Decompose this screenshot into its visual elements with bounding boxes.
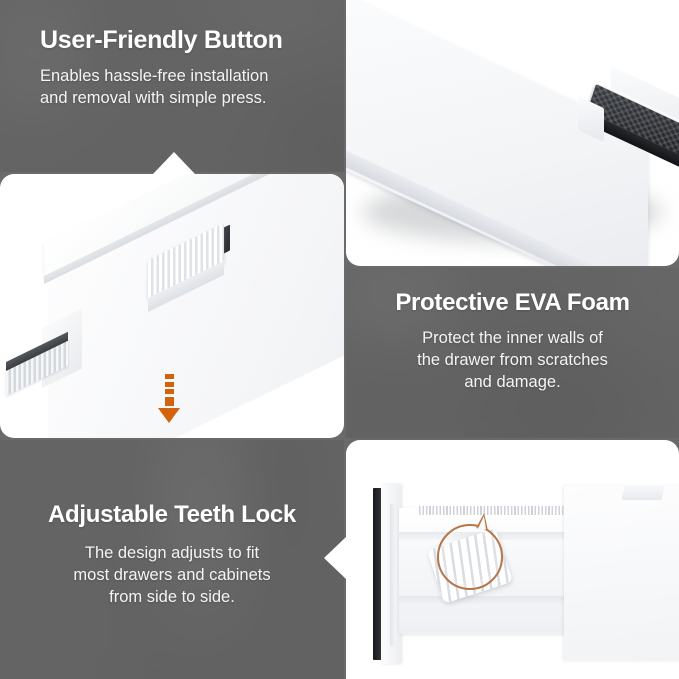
feature-body-line: from side to side. (26, 587, 318, 609)
photo-scene-teeth-lock (346, 440, 679, 679)
ratchet-teeth-rail (419, 506, 565, 515)
magnifier-circle-icon (437, 524, 503, 590)
feature-body-line: The design adjusts to fit (26, 543, 318, 565)
feature-text-block: Protective EVA Foam Protect the inner wa… (346, 268, 679, 394)
annotation-arrow-down-icon (158, 374, 180, 423)
feature-panel-adjustable-teeth-lock: Adjustable Teeth Lock The design adjusts… (0, 440, 344, 679)
feature-body-line: and damage. (372, 372, 653, 394)
feature-panel-user-friendly-button: User-Friendly Button Enables hassle-free… (0, 0, 344, 172)
feature-body-line: Protect the inner walls of (372, 328, 653, 350)
feature-body-line: most drawers and cabinets (26, 565, 318, 587)
feature-title-user-friendly-button: User-Friendly Button (40, 26, 318, 54)
sleeve-press-tab (622, 486, 665, 500)
divider-left-groove (390, 504, 396, 646)
product-photo-press-button (0, 174, 344, 438)
feature-body-line: the drawer from scratches (372, 350, 653, 372)
feature-body-line: and removal with simple press. (40, 88, 318, 110)
feature-body-protective-eva-foam: Protect the inner walls of the drawer fr… (372, 328, 653, 394)
feature-body-user-friendly-button: Enables hassle-free installation and rem… (40, 66, 318, 110)
photo-scene-press-button (0, 174, 344, 438)
pointer-triangle-left (324, 537, 346, 579)
product-photo-eva-foam-edge (346, 0, 679, 266)
feature-body-line: Enables hassle-free installation (40, 66, 318, 88)
divider-right-sleeve (564, 486, 679, 661)
feature-title-adjustable-teeth-lock: Adjustable Teeth Lock (26, 502, 318, 529)
divider-band-lower (399, 596, 567, 606)
feature-body-adjustable-teeth-lock: The design adjusts to fit most drawers a… (26, 543, 318, 609)
feature-panel-protective-eva-foam: Protective EVA Foam Protect the inner wa… (346, 268, 679, 438)
feature-text-block: User-Friendly Button Enables hassle-free… (0, 0, 344, 110)
infographic-board: User-Friendly Button Enables hassle-free… (0, 0, 679, 679)
photo-scene-eva-foam (346, 0, 679, 266)
pointer-triangle-up (153, 152, 195, 174)
feature-text-block: Adjustable Teeth Lock The design adjusts… (0, 440, 344, 609)
feature-title-protective-eva-foam: Protective EVA Foam (372, 290, 653, 317)
product-photo-teeth-lock (346, 440, 679, 679)
divider-body-face (48, 174, 344, 438)
